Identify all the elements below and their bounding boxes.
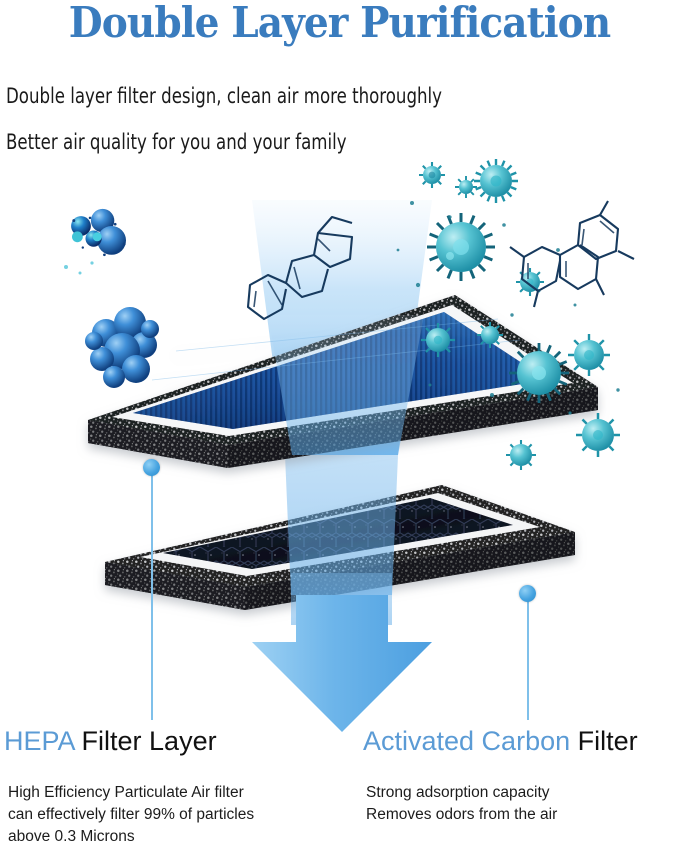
hepa-caption-body: High Efficiency Particulate Air filter c… bbox=[8, 782, 254, 848]
carbon-callout-dot[interactable] bbox=[519, 585, 536, 602]
carbon-caption-body: Strong adsorption capacity Removes odors… bbox=[366, 782, 557, 826]
filter-stack-illustration bbox=[0, 155, 679, 735]
subtitle-line-2: Better air quality for you and your fami… bbox=[6, 130, 347, 154]
bacteria-cluster-left bbox=[64, 209, 126, 275]
particle-cluster-left bbox=[85, 307, 159, 388]
airflow-arrow-down bbox=[252, 595, 432, 732]
carbon-caption-rest: Filter bbox=[570, 726, 638, 756]
hepa-leader-line bbox=[151, 470, 153, 720]
carbon-caption-highlight: Activated Carbon bbox=[363, 726, 570, 756]
subtitle-line-1: Double layer filter design, clean air mo… bbox=[6, 84, 442, 108]
infographic-canvas: Double Layer Purification Double layer f… bbox=[0, 0, 679, 844]
airflow-cone-overlay bbox=[268, 315, 424, 455]
hepa-caption-rest: Filter Layer bbox=[74, 726, 217, 756]
carbon-caption-heading: Activated Carbon Filter bbox=[363, 728, 638, 755]
carbon-leader-line bbox=[527, 596, 529, 720]
hepa-caption-highlight: HEPA bbox=[4, 726, 74, 756]
hepa-caption-heading: HEPA Filter Layer bbox=[4, 728, 217, 755]
page-title: Double Layer Purification bbox=[24, 0, 655, 47]
hepa-callout-dot[interactable] bbox=[143, 459, 160, 476]
